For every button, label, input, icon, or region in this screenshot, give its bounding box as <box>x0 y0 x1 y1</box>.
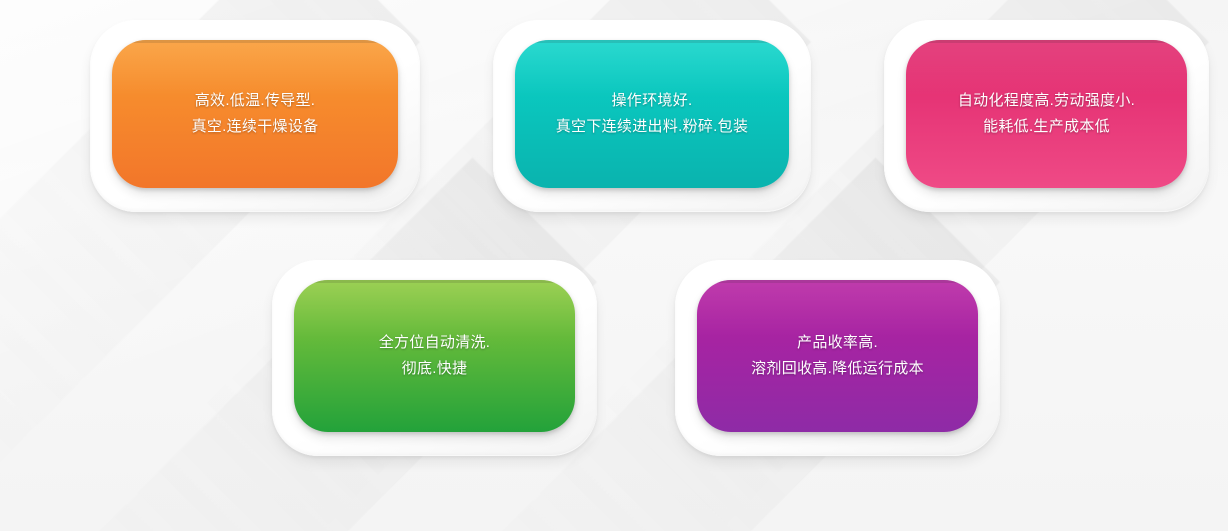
card-pink-automation[interactable]: 自动化程度高.劳动强度小. 能耗低.生产成本低 <box>884 20 1209 212</box>
card-automation-text: 自动化程度高.劳动强度小. 能耗低.生产成本低 <box>944 88 1149 140</box>
card-efficiency-text: 高效.低温.传导型. 真空.连续干燥设备 <box>178 88 333 140</box>
card-environment-panel: 操作环境好. 真空下连续进出料.粉碎.包装 <box>515 40 789 188</box>
card-teal-environment[interactable]: 操作环境好. 真空下连续进出料.粉碎.包装 <box>493 20 811 212</box>
infographic-stage: 高效.低温.传导型. 真空.连续干燥设备操作环境好. 真空下连续进出料.粉碎.包… <box>0 0 1228 531</box>
card-cleaning-text: 全方位自动清洗. 彻底.快捷 <box>365 330 505 382</box>
card-purple-yield[interactable]: 产品收率高. 溶剂回收高.降低运行成本 <box>675 260 1000 456</box>
card-cleaning-panel: 全方位自动清洗. 彻底.快捷 <box>294 280 575 432</box>
card-orange-efficiency[interactable]: 高效.低温.传导型. 真空.连续干燥设备 <box>90 20 420 212</box>
card-environment-text: 操作环境好. 真空下连续进出料.粉碎.包装 <box>542 88 763 140</box>
card-yield-panel: 产品收率高. 溶剂回收高.降低运行成本 <box>697 280 978 432</box>
card-green-cleaning[interactable]: 全方位自动清洗. 彻底.快捷 <box>272 260 597 456</box>
card-efficiency-panel: 高效.低温.传导型. 真空.连续干燥设备 <box>112 40 398 188</box>
card-automation-panel: 自动化程度高.劳动强度小. 能耗低.生产成本低 <box>906 40 1187 188</box>
card-yield-text: 产品收率高. 溶剂回收高.降低运行成本 <box>737 330 938 382</box>
